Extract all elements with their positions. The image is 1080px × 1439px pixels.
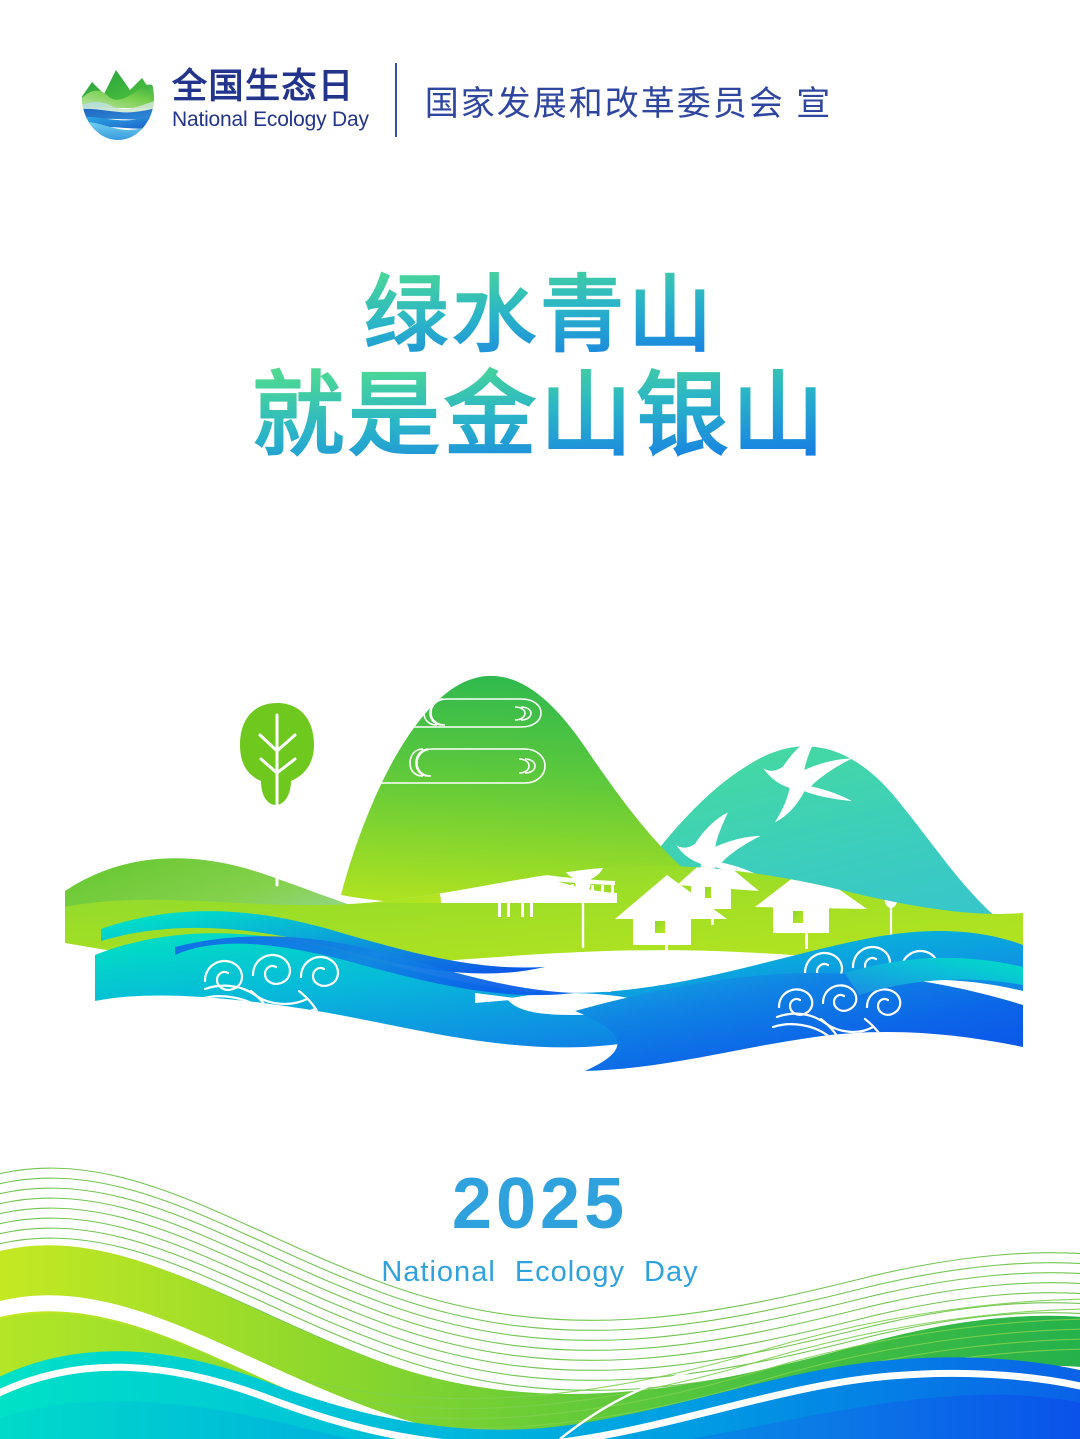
brand-name-en: National Ecology Day: [172, 108, 369, 132]
river-ribbon-lower: [575, 973, 1023, 1071]
big-tree: [240, 703, 314, 885]
year-number: 2025: [0, 1168, 1080, 1240]
year-caption: National Ecology Day: [0, 1256, 1080, 1289]
brand-wordmark: 全国生态日 National Ecology Day: [172, 68, 369, 132]
year-block: 2025 National Ecology Day: [0, 1168, 1080, 1289]
mountain-water-circle-logo-icon: [78, 56, 158, 144]
brand-name-cn: 全国生态日: [172, 68, 369, 106]
title-line-1: 绿水青山: [0, 268, 1080, 362]
issuing-agency-label: 国家发展和改革委员会 宣: [425, 76, 832, 125]
poster-header: 全国生态日 National Ecology Day 国家发展和改革委员会 宣: [78, 52, 832, 148]
header-divider: [395, 63, 397, 137]
title-line-2: 就是金山银山: [0, 364, 1080, 469]
green-mountains-and-blue-river-illustration: [55, 655, 1025, 1075]
poster-title: 绿水青山 就是金山银山: [0, 268, 1080, 469]
poster-canvas: 全国生态日 National Ecology Day 国家发展和改革委员会 宣 …: [0, 0, 1080, 1439]
